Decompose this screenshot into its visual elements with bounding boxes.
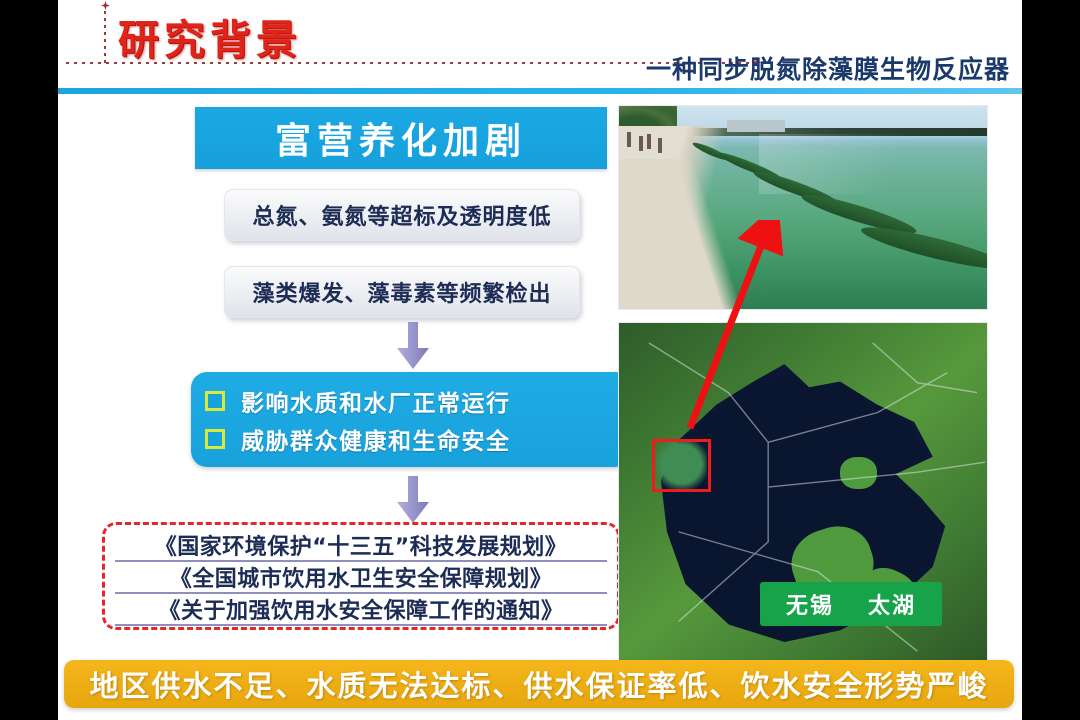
bottom-summary-banner: 地区供水不足、水质无法达标、供水保证率低、饮水安全形势严峻 xyxy=(64,660,1014,708)
impact-label: 威胁群众健康和生命安全 xyxy=(241,422,511,456)
dotted-vertical-rule xyxy=(104,4,106,66)
beach-people xyxy=(625,128,671,162)
issue-box-2: 藻类爆发、藻毒素等频繁检出 xyxy=(224,266,580,318)
right-image-column: 无锡 太湖 xyxy=(618,100,1018,660)
issue-box-1: 总氮、氨氮等超标及透明度低 xyxy=(224,189,580,241)
checkbox-square-icon xyxy=(205,391,225,411)
policy-documents-box: 《国家环境保护“十三五”科技发展规划》 《全国城市饮用水卫生安全保障规划》 《关… xyxy=(102,522,620,630)
policy-document-item: 《全国城市饮用水卫生安全保障规划》 xyxy=(115,562,607,594)
diamond-node-icon xyxy=(101,1,110,10)
checkbox-square-icon xyxy=(205,429,225,449)
slide-header: 研究背景 一种同步脱氮除藻膜生物反应器 xyxy=(58,0,1022,92)
impact-item: 影响水质和水厂正常运行 xyxy=(205,382,631,420)
caption-city: 无锡 xyxy=(786,588,834,620)
page-title: 研究背景 xyxy=(118,6,302,66)
caption-lake: 太湖 xyxy=(868,588,916,620)
down-arrow-icon xyxy=(396,322,430,370)
header-divider xyxy=(58,88,1022,94)
presentation-slide: 研究背景 一种同步脱氮除藻膜生物反应器 富营养化加剧 总氮、氨氮等超标及透明度低… xyxy=(58,0,1022,720)
wuxi-highlight-box xyxy=(652,439,711,492)
section-title-banner: 富营养化加剧 xyxy=(195,107,607,169)
policy-document-item: 《关于加强饮用水安全保障工作的通知》 xyxy=(115,594,607,626)
impacts-panel: 影响水质和水厂正常运行 威胁群众健康和生命安全 xyxy=(191,372,631,467)
left-content-column: 富营养化加剧 总氮、氨氮等超标及透明度低 藻类爆发、藻毒素等频繁检出 影响水质和… xyxy=(58,100,628,660)
impact-item: 威胁群众健康和生命安全 xyxy=(205,420,631,458)
algae-shoreline-photo xyxy=(618,105,988,310)
down-arrow-icon xyxy=(396,476,430,524)
screen-root: 研究背景 一种同步脱氮除藻膜生物反应器 富营养化加剧 总氮、氨氮等超标及透明度低… xyxy=(0,0,1080,720)
photo-caption-label: 无锡 太湖 xyxy=(760,582,942,626)
impact-label: 影响水质和水厂正常运行 xyxy=(241,384,511,418)
header-subtitle: 一种同步脱氮除藻膜生物反应器 xyxy=(646,50,1010,86)
policy-document-item: 《国家环境保护“十三五”科技发展规划》 xyxy=(115,530,607,562)
